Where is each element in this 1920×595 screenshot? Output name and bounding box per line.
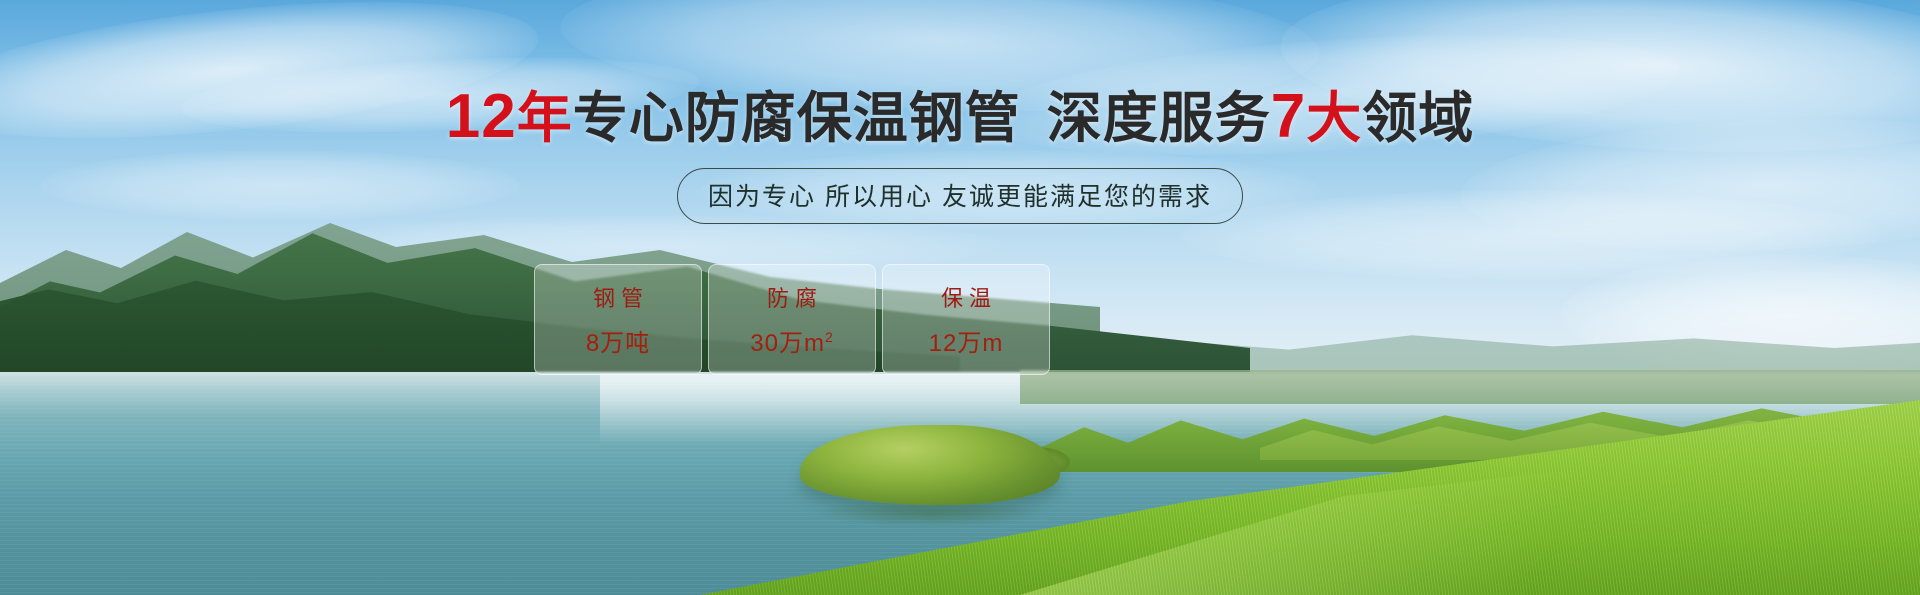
stat-card-value-exponent: 2 [825,329,834,345]
stat-card-value: 30万m2 [750,323,833,358]
stat-card-value: 12万m [929,323,1004,358]
stat-card-label: 保温 [935,281,997,313]
banner-subtitle-pill: 因为专心 所以用心 友诚更能满足您的需求 [677,168,1243,224]
headline-years-unit: 年 [517,87,573,149]
stat-card-label: 防腐 [761,281,823,313]
promo-banner: 12年专心防腐保温钢管深度服务7大领域 因为专心 所以用心 友诚更能满足您的需求… [0,0,1920,595]
headline-phrase-two: 深度服务 [1047,87,1271,149]
stat-card-insulation: 保温 12万m [882,264,1050,375]
stat-card-steel-pipe: 钢管 8万吨 [534,264,702,375]
stat-card-group: 钢管 8万吨 防腐 30万m2 保温 12万m [534,264,1050,375]
headline-fields-number: 7 [1271,82,1306,151]
banner-subtitle-container: 因为专心 所以用心 友诚更能满足您的需求 [0,168,1920,224]
stat-card-anticorrosion: 防腐 30万m2 [708,264,876,375]
stat-card-label: 钢管 [587,281,649,313]
stat-card-value: 8万吨 [586,323,650,358]
stat-card-value-main: 12万m [929,330,1004,357]
headline-years-number: 12 [446,82,517,151]
banner-content: 12年专心防腐保温钢管深度服务7大领域 因为专心 所以用心 友诚更能满足您的需求… [0,0,1920,595]
stat-card-value-main: 30万m [750,330,825,357]
headline-fields-unit: 大 [1306,87,1362,149]
headline-phrase-three: 领域 [1362,87,1474,149]
banner-headline: 12年专心防腐保温钢管深度服务7大领域 [0,86,1920,148]
stat-card-value-main: 8万吨 [586,330,650,357]
headline-phrase-one: 专心防腐保温钢管 [573,87,1021,149]
